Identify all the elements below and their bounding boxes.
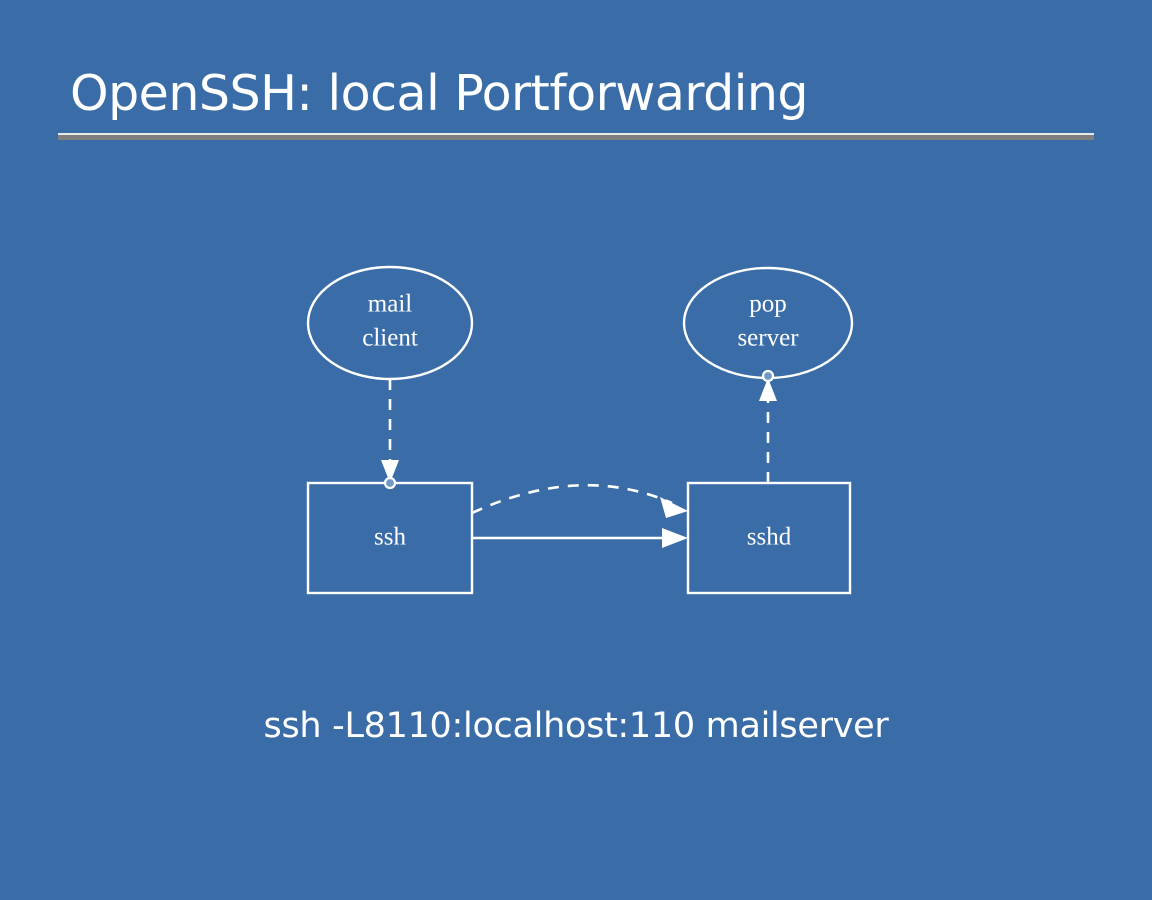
pop-server-label-line1: pop bbox=[749, 291, 787, 318]
node-mail-client[interactable]: mail client bbox=[308, 267, 472, 379]
ssh-box-label: ssh bbox=[374, 524, 406, 551]
ssh-to-sshd-tunnel-arrowhead bbox=[660, 497, 688, 518]
mail-client-label-line2: client bbox=[362, 325, 418, 352]
edge-ssh-to-sshd-connection bbox=[472, 528, 688, 548]
node-ssh[interactable]: ssh bbox=[308, 483, 472, 593]
pop-server-ellipse-outline bbox=[684, 268, 852, 378]
mail-client-ellipse-outline bbox=[308, 267, 472, 379]
command-caption: ssh -L8110:localhost:110 mailserver bbox=[0, 706, 1152, 746]
node-sshd[interactable]: sshd bbox=[688, 483, 850, 593]
ssh-to-sshd-tunnel-dashed-curve bbox=[472, 485, 672, 513]
pop-server-label-line2: server bbox=[737, 325, 799, 352]
edge-mail-client-to-ssh bbox=[381, 379, 399, 488]
node-pop-server[interactable]: pop server bbox=[684, 268, 852, 378]
ssh-to-sshd-solid-arrowhead bbox=[662, 528, 688, 548]
portforwarding-diagram: mail client pop server ssh sshd bbox=[0, 0, 1152, 900]
ssh-inbound-port-dot bbox=[385, 478, 395, 488]
pop-server-inbound-port-dot bbox=[763, 371, 773, 381]
edge-ssh-to-sshd-tunnel bbox=[472, 485, 688, 518]
edge-sshd-to-pop-server bbox=[759, 371, 777, 483]
mail-client-label-line1: mail bbox=[368, 291, 412, 318]
slide-canvas: OpenSSH: local Portforwarding mail clien… bbox=[0, 0, 1152, 900]
sshd-box-label: sshd bbox=[747, 524, 792, 551]
